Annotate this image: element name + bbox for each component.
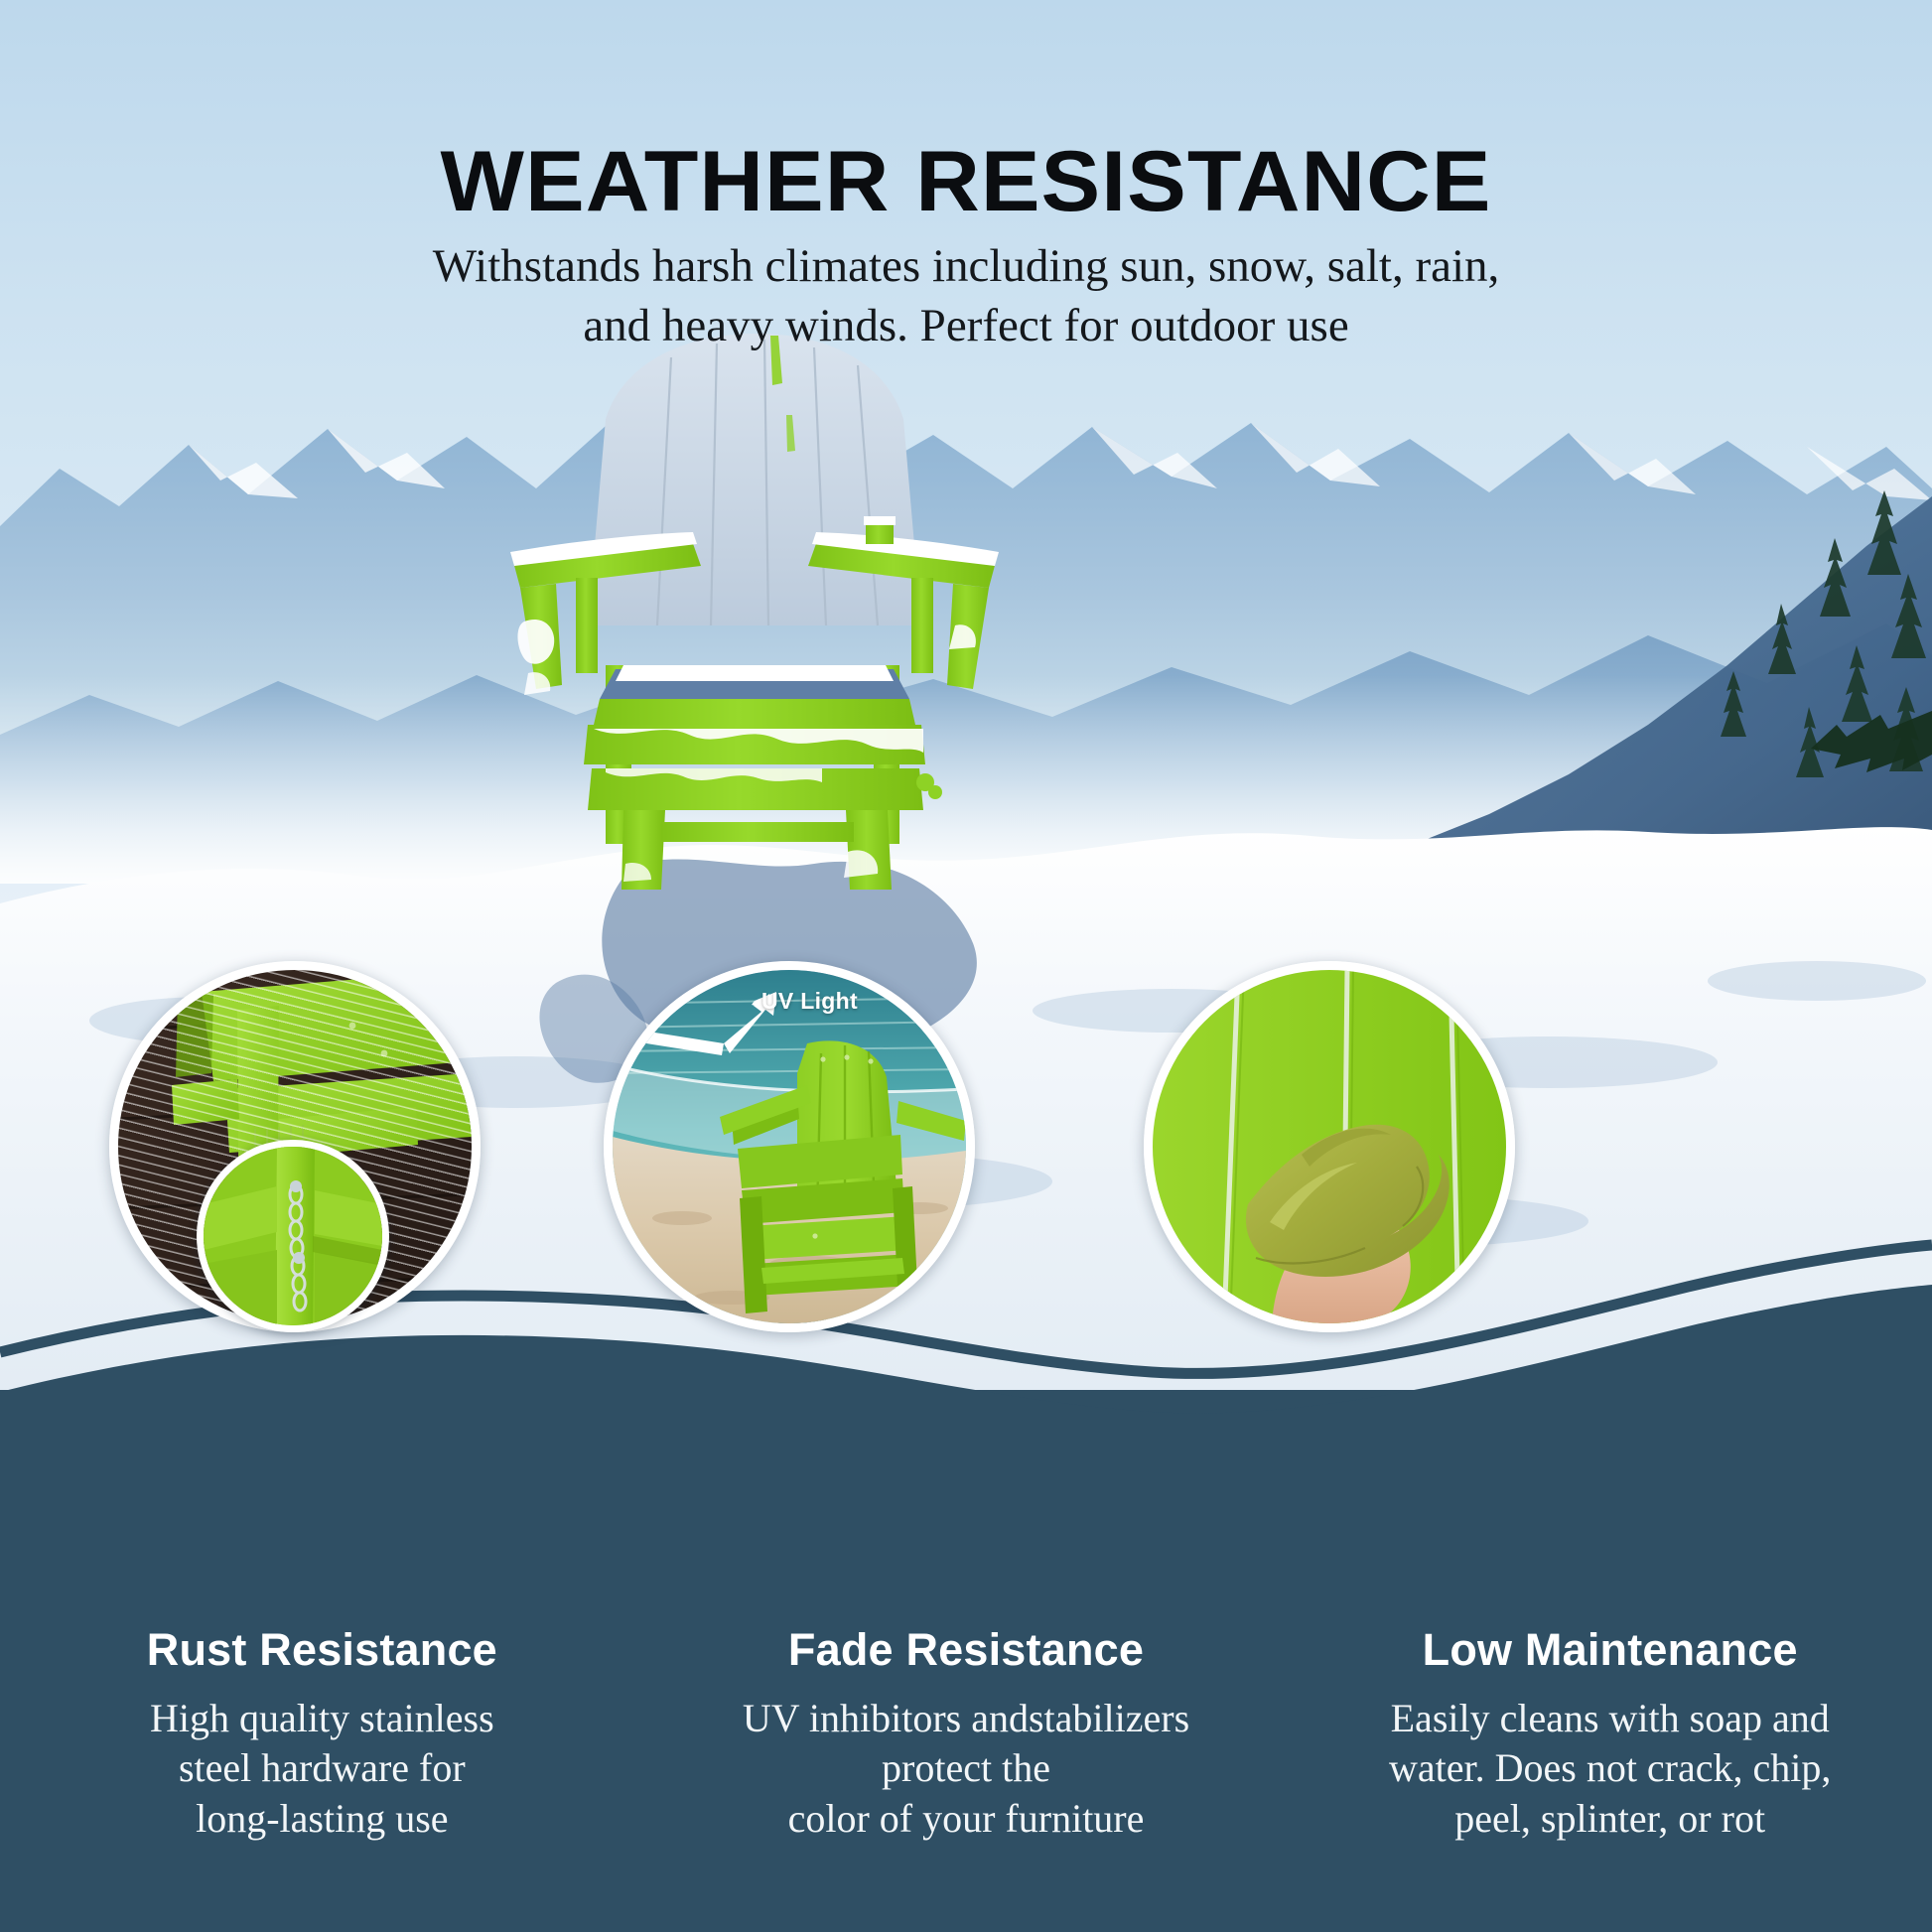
cleaning-photo (1153, 970, 1506, 1323)
feature-image-low-maintenance (1144, 961, 1515, 1332)
feature-title-fade: Fade Resistance (682, 1624, 1251, 1676)
subtitle-line-2: and heavy winds. Perfect for outdoor use (0, 296, 1932, 355)
uv-light-arrow-icon (613, 970, 966, 1323)
feature-title-rust: Rust Resistance (38, 1624, 607, 1676)
feature-body-rust-line-2: steel hardware for (38, 1743, 607, 1793)
feature-body-low-maintenance-line-2: water. Does not crack, chip, (1325, 1743, 1894, 1793)
feature-title-low-maintenance: Low Maintenance (1325, 1624, 1894, 1676)
feature-body-fade-line-1: UV inhibitors andstabilizers (682, 1694, 1251, 1743)
feature-body-rust: High quality stainless steel hardware fo… (38, 1694, 607, 1844)
feature-body-low-maintenance: Easily cleans with soap and water. Does … (1325, 1694, 1894, 1844)
feature-body-fade: UV inhibitors andstabilizers protect the… (682, 1694, 1251, 1844)
poster-canvas: WEATHER RESISTANCE Withstands harsh clim… (0, 0, 1932, 1932)
feature-fade-resistance: Fade Resistance UV inhibitors andstabili… (644, 1624, 1289, 1844)
feature-image-fade-resistance: UV Light (604, 961, 975, 1332)
page-title: WEATHER RESISTANCE (0, 139, 1932, 224)
feature-rust-resistance: Rust Resistance High quality stainless s… (0, 1624, 644, 1844)
feature-body-rust-line-3: long-lasting use (38, 1794, 607, 1844)
feature-body-fade-line-3: color of your furniture (682, 1794, 1251, 1844)
feature-low-maintenance: Low Maintenance Easily cleans with soap … (1288, 1624, 1932, 1844)
feature-inset-stainless-chain (197, 1140, 389, 1332)
feature-body-fade-line-2: protect the (682, 1743, 1251, 1793)
adirondack-chair-hero (477, 328, 1033, 894)
uv-light-label: UV Light (761, 988, 858, 1015)
feature-body-low-maintenance-line-3: peel, splinter, or rot (1325, 1794, 1894, 1844)
subtitle-line-1: Withstands harsh climates including sun,… (0, 236, 1932, 296)
feature-body-rust-line-1: High quality stainless (38, 1694, 607, 1743)
feature-list: Rust Resistance High quality stainless s… (0, 1624, 1932, 1844)
feature-body-low-maintenance-line-1: Easily cleans with soap and (1325, 1694, 1894, 1743)
